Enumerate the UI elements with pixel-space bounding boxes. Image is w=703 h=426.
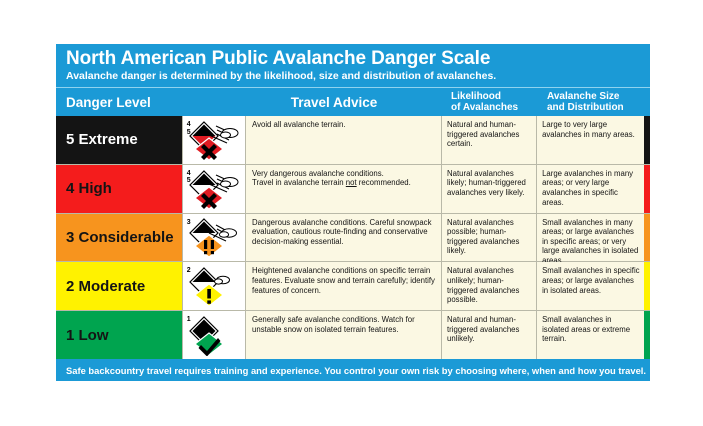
title-band: North American Public Avalanche Danger S… xyxy=(56,44,650,87)
danger-level-cell-extreme: 5 Extreme xyxy=(56,116,182,164)
icon-size-numbers: 2 xyxy=(187,267,191,275)
size-distribution-cell: Large avalanches in many areas; or very … xyxy=(537,165,644,213)
row-color-stripe xyxy=(644,116,650,164)
likelihood-cell: Natural avalanches possible; human-trigg… xyxy=(442,214,537,262)
table-row[interactable]: 2 Moderate 2 xyxy=(56,262,650,311)
table-row[interactable]: 3 Considerable 3 xyxy=(56,214,650,263)
header-danger-level: Danger Level xyxy=(56,88,183,116)
avalanche-danger-scale-card: North American Public Avalanche Danger S… xyxy=(56,44,650,381)
travel-advice-cell: Avoid all avalanche terrain. xyxy=(246,116,442,164)
icon-cell-moderate: 2 xyxy=(182,262,246,310)
header-avalanche-size: Avalanche Size and Distribution xyxy=(542,88,650,116)
icon-size-numbers: 45 xyxy=(187,170,191,185)
likelihood-cell: Natural avalanches likely; human-trigger… xyxy=(442,165,537,213)
header-icon-column xyxy=(183,88,248,116)
likelihood-cell: Natural and human-triggered avalanches c… xyxy=(442,116,537,164)
page-title: North American Public Avalanche Danger S… xyxy=(66,49,642,69)
row-color-stripe xyxy=(644,165,650,213)
icon-size-numbers: 45 xyxy=(187,121,191,136)
icon-size-numbers: 1 xyxy=(187,316,191,324)
icon-cell-extreme: 45 xyxy=(182,116,246,164)
header-likelihood-line2: of Avalanches xyxy=(451,102,518,113)
size-distribution-cell: Small avalanches in specific areas; or l… xyxy=(537,262,644,310)
high-danger-icon xyxy=(187,168,241,210)
row-color-stripe xyxy=(644,262,650,310)
header-travel-advice: Travel Advice xyxy=(248,88,446,116)
footer-text: Safe backcountry travel requires trainin… xyxy=(66,365,646,376)
row-color-stripe xyxy=(644,311,650,359)
danger-level-cell-low: 1 Low xyxy=(56,311,182,359)
travel-advice-cell: Heightened avalanche conditions on speci… xyxy=(246,262,442,310)
table-header-row: Danger Level Travel Advice Likelihood of… xyxy=(56,87,650,116)
row-color-stripe xyxy=(644,214,650,262)
advice-emphasis-not: not xyxy=(346,178,357,187)
header-size-line1: Avalanche Size xyxy=(547,91,619,102)
footer-band: Safe backcountry travel requires trainin… xyxy=(56,359,650,381)
poster-canvas: North American Public Avalanche Danger S… xyxy=(0,0,703,426)
travel-advice-line1: Very dangerous avalanche conditions. xyxy=(252,169,384,178)
icon-cell-considerable: 3 xyxy=(182,214,246,262)
danger-level-label: 4 High xyxy=(66,180,112,197)
travel-advice-text: Avoid all avalanche terrain. xyxy=(252,120,345,129)
danger-level-cell-considerable: 3 Considerable xyxy=(56,214,182,262)
danger-level-label: 5 Extreme xyxy=(66,131,138,148)
likelihood-cell: Natural avalanches unlikely; human-trigg… xyxy=(442,262,537,310)
travel-advice-cell: Very dangerous avalanche conditions. Tra… xyxy=(246,165,442,213)
low-danger-icon xyxy=(187,314,241,356)
icon-cell-low: 1 xyxy=(182,311,246,359)
icon-size-numbers: 3 xyxy=(187,219,191,227)
likelihood-cell: Natural and human-triggered avalanches u… xyxy=(442,311,537,359)
size-distribution-cell: Small avalanches in isolated areas or ex… xyxy=(537,311,644,359)
travel-advice-line2: Travel in avalanche terrain not recommen… xyxy=(252,178,411,187)
danger-level-label: 1 Low xyxy=(66,327,109,344)
travel-advice-cell: Dangerous avalanche conditions. Careful … xyxy=(246,214,442,262)
table-row[interactable]: 4 High 45 xyxy=(56,165,650,214)
considerable-danger-icon xyxy=(187,216,241,258)
size-distribution-cell: Small avalanches in many areas; or large… xyxy=(537,214,644,262)
table-row[interactable]: 5 Extreme 45 xyxy=(56,116,650,165)
table-row[interactable]: 1 Low 1 Generally safe avalanche xyxy=(56,311,650,359)
danger-level-label: 2 Moderate xyxy=(66,278,145,295)
page-subtitle: Avalanche danger is determined by the li… xyxy=(66,70,642,83)
danger-scale-rows: 5 Extreme 45 xyxy=(56,116,650,359)
danger-level-cell-high: 4 High xyxy=(56,165,182,213)
icon-cell-high: 45 xyxy=(182,165,246,213)
header-likelihood: Likelihood of Avalanches xyxy=(446,88,542,116)
danger-level-label: 3 Considerable xyxy=(66,229,174,246)
extreme-danger-icon xyxy=(187,119,241,161)
header-likelihood-line1: Likelihood xyxy=(451,91,501,102)
size-distribution-cell: Large to very large avalanches in many a… xyxy=(537,116,644,164)
travel-advice-cell: Generally safe avalanche conditions. Wat… xyxy=(246,311,442,359)
moderate-danger-icon xyxy=(187,265,241,307)
danger-level-cell-moderate: 2 Moderate xyxy=(56,262,182,310)
header-size-line2: and Distribution xyxy=(547,102,624,113)
